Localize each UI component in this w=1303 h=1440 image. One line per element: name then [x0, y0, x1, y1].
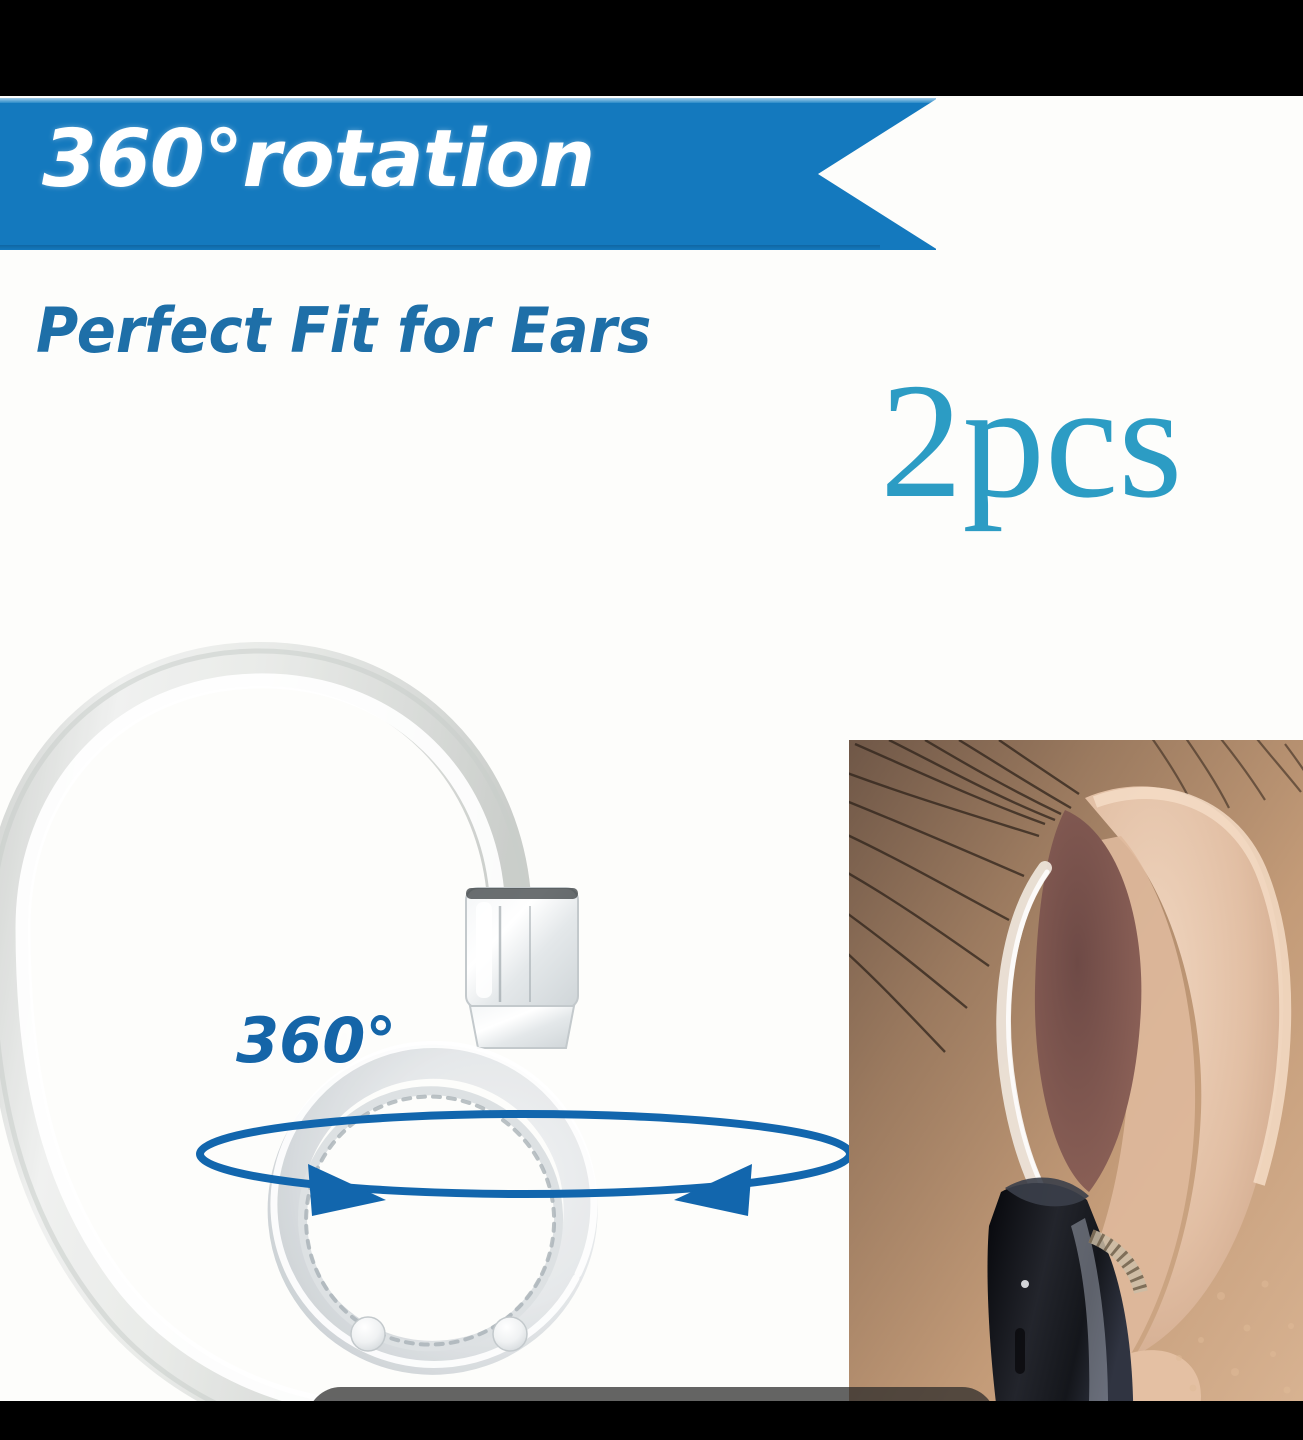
- swivel-neck: [470, 1006, 574, 1048]
- inset-photo-ear-with-headset: [849, 740, 1303, 1401]
- swivel-highlight: [476, 902, 492, 998]
- product-image-canvas: 360°rotation Perfect Fit for Ears 2pcs: [0, 0, 1303, 1440]
- clamp-tip-right: [493, 1317, 527, 1351]
- rotation-indicator: [190, 1096, 860, 1236]
- ear-hook-svg: [0, 556, 710, 1401]
- banner-bottom-shadow: [0, 245, 880, 250]
- clamp-tip-left: [351, 1317, 385, 1351]
- subtitle-text: Perfect Fit for Ears: [36, 294, 651, 367]
- banner-headline: 360°rotation: [42, 113, 594, 205]
- quantity-badge: 2pcs: [880, 358, 1182, 523]
- swivel-dark-band: [466, 888, 578, 899]
- product-ear-hook-illustration: [0, 556, 710, 1401]
- variant-caption-pill: Color: Transparent / Size: 2pcs: [307, 1387, 996, 1401]
- inset-photo-svg: [849, 740, 1303, 1401]
- image-content-area: 360°rotation Perfect Fit for Ears 2pcs: [0, 96, 1303, 1401]
- photo-device-led: [1021, 1280, 1029, 1288]
- letterbox-bar-top: [0, 0, 1303, 96]
- rotation-degree-label: 360°: [236, 1004, 396, 1077]
- letterbox-bar-bottom: [0, 1401, 1303, 1440]
- photo-device-button: [1015, 1328, 1025, 1374]
- banner-top-highlight: [0, 98, 936, 103]
- swivel-joint: [466, 888, 578, 1048]
- rotation-indicator-svg: [190, 1096, 860, 1236]
- rotation-ellipse: [200, 1114, 850, 1194]
